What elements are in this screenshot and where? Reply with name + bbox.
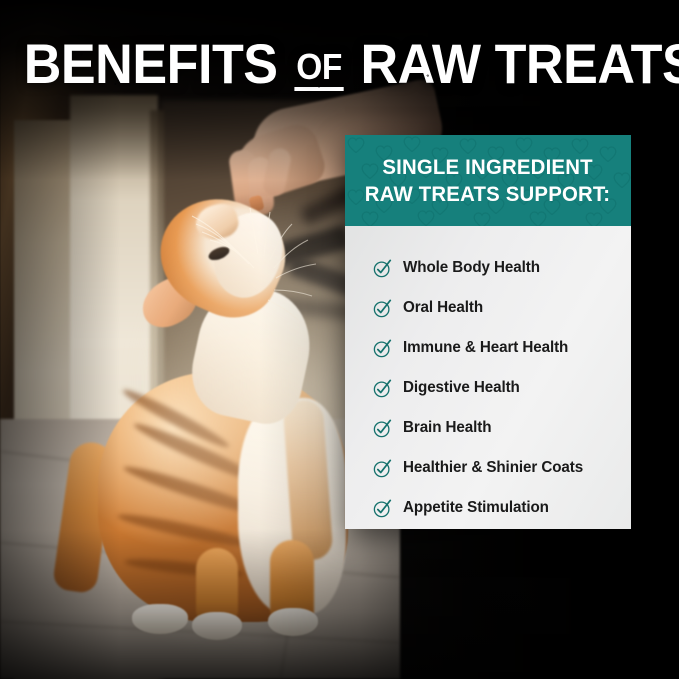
list-item: Immune & Heart Health: [345, 328, 631, 368]
title-part-of: OF: [294, 46, 343, 91]
list-item: Digestive Health: [345, 368, 631, 408]
card-header-line-2: RAW TREATS SUPPORT:: [365, 181, 611, 208]
list-item: Oral Health: [345, 288, 631, 328]
title-part-2: RAW TREATS: [360, 36, 679, 92]
title-part-1: BENEFITS: [24, 36, 278, 92]
list-item-label: Digestive Health: [403, 379, 520, 397]
card-header: SINGLE INGREDIENT RAW TREATS SUPPORT:: [345, 135, 631, 226]
card-header-text: SINGLE INGREDIENT RAW TREATS SUPPORT:: [365, 154, 611, 208]
check-circle-icon: [373, 419, 392, 438]
list-item-label: Immune & Heart Health: [403, 339, 568, 357]
list-item: Appetite Stimulation: [345, 488, 631, 528]
list-item: Brain Health: [345, 408, 631, 448]
vignette-bottom: [0, 529, 679, 679]
benefits-list: Whole Body Health Oral Health Immune & H…: [345, 226, 631, 529]
check-circle-icon: [373, 339, 392, 358]
list-item-label: Brain Health: [403, 419, 491, 437]
list-item-label: Appetite Stimulation: [403, 499, 549, 517]
list-item-label: Healthier & Shinier Coats: [403, 459, 583, 477]
infographic-root: BENEFITS OF RAW TREATS: [0, 0, 679, 679]
check-circle-icon: [373, 299, 392, 318]
list-item: Healthier & Shinier Coats: [345, 448, 631, 488]
check-circle-icon: [373, 259, 392, 278]
check-circle-icon: [373, 379, 392, 398]
card-header-line-1: SINGLE INGREDIENT: [365, 154, 611, 181]
list-item-label: Whole Body Health: [403, 259, 540, 277]
benefits-card: SINGLE INGREDIENT RAW TREATS SUPPORT: Wh…: [345, 135, 631, 529]
list-item-label: Oral Health: [403, 299, 483, 317]
list-item: Whole Body Health: [345, 248, 631, 288]
check-circle-icon: [373, 499, 392, 518]
page-title: BENEFITS OF RAW TREATS: [24, 36, 655, 99]
check-circle-icon: [373, 459, 392, 478]
